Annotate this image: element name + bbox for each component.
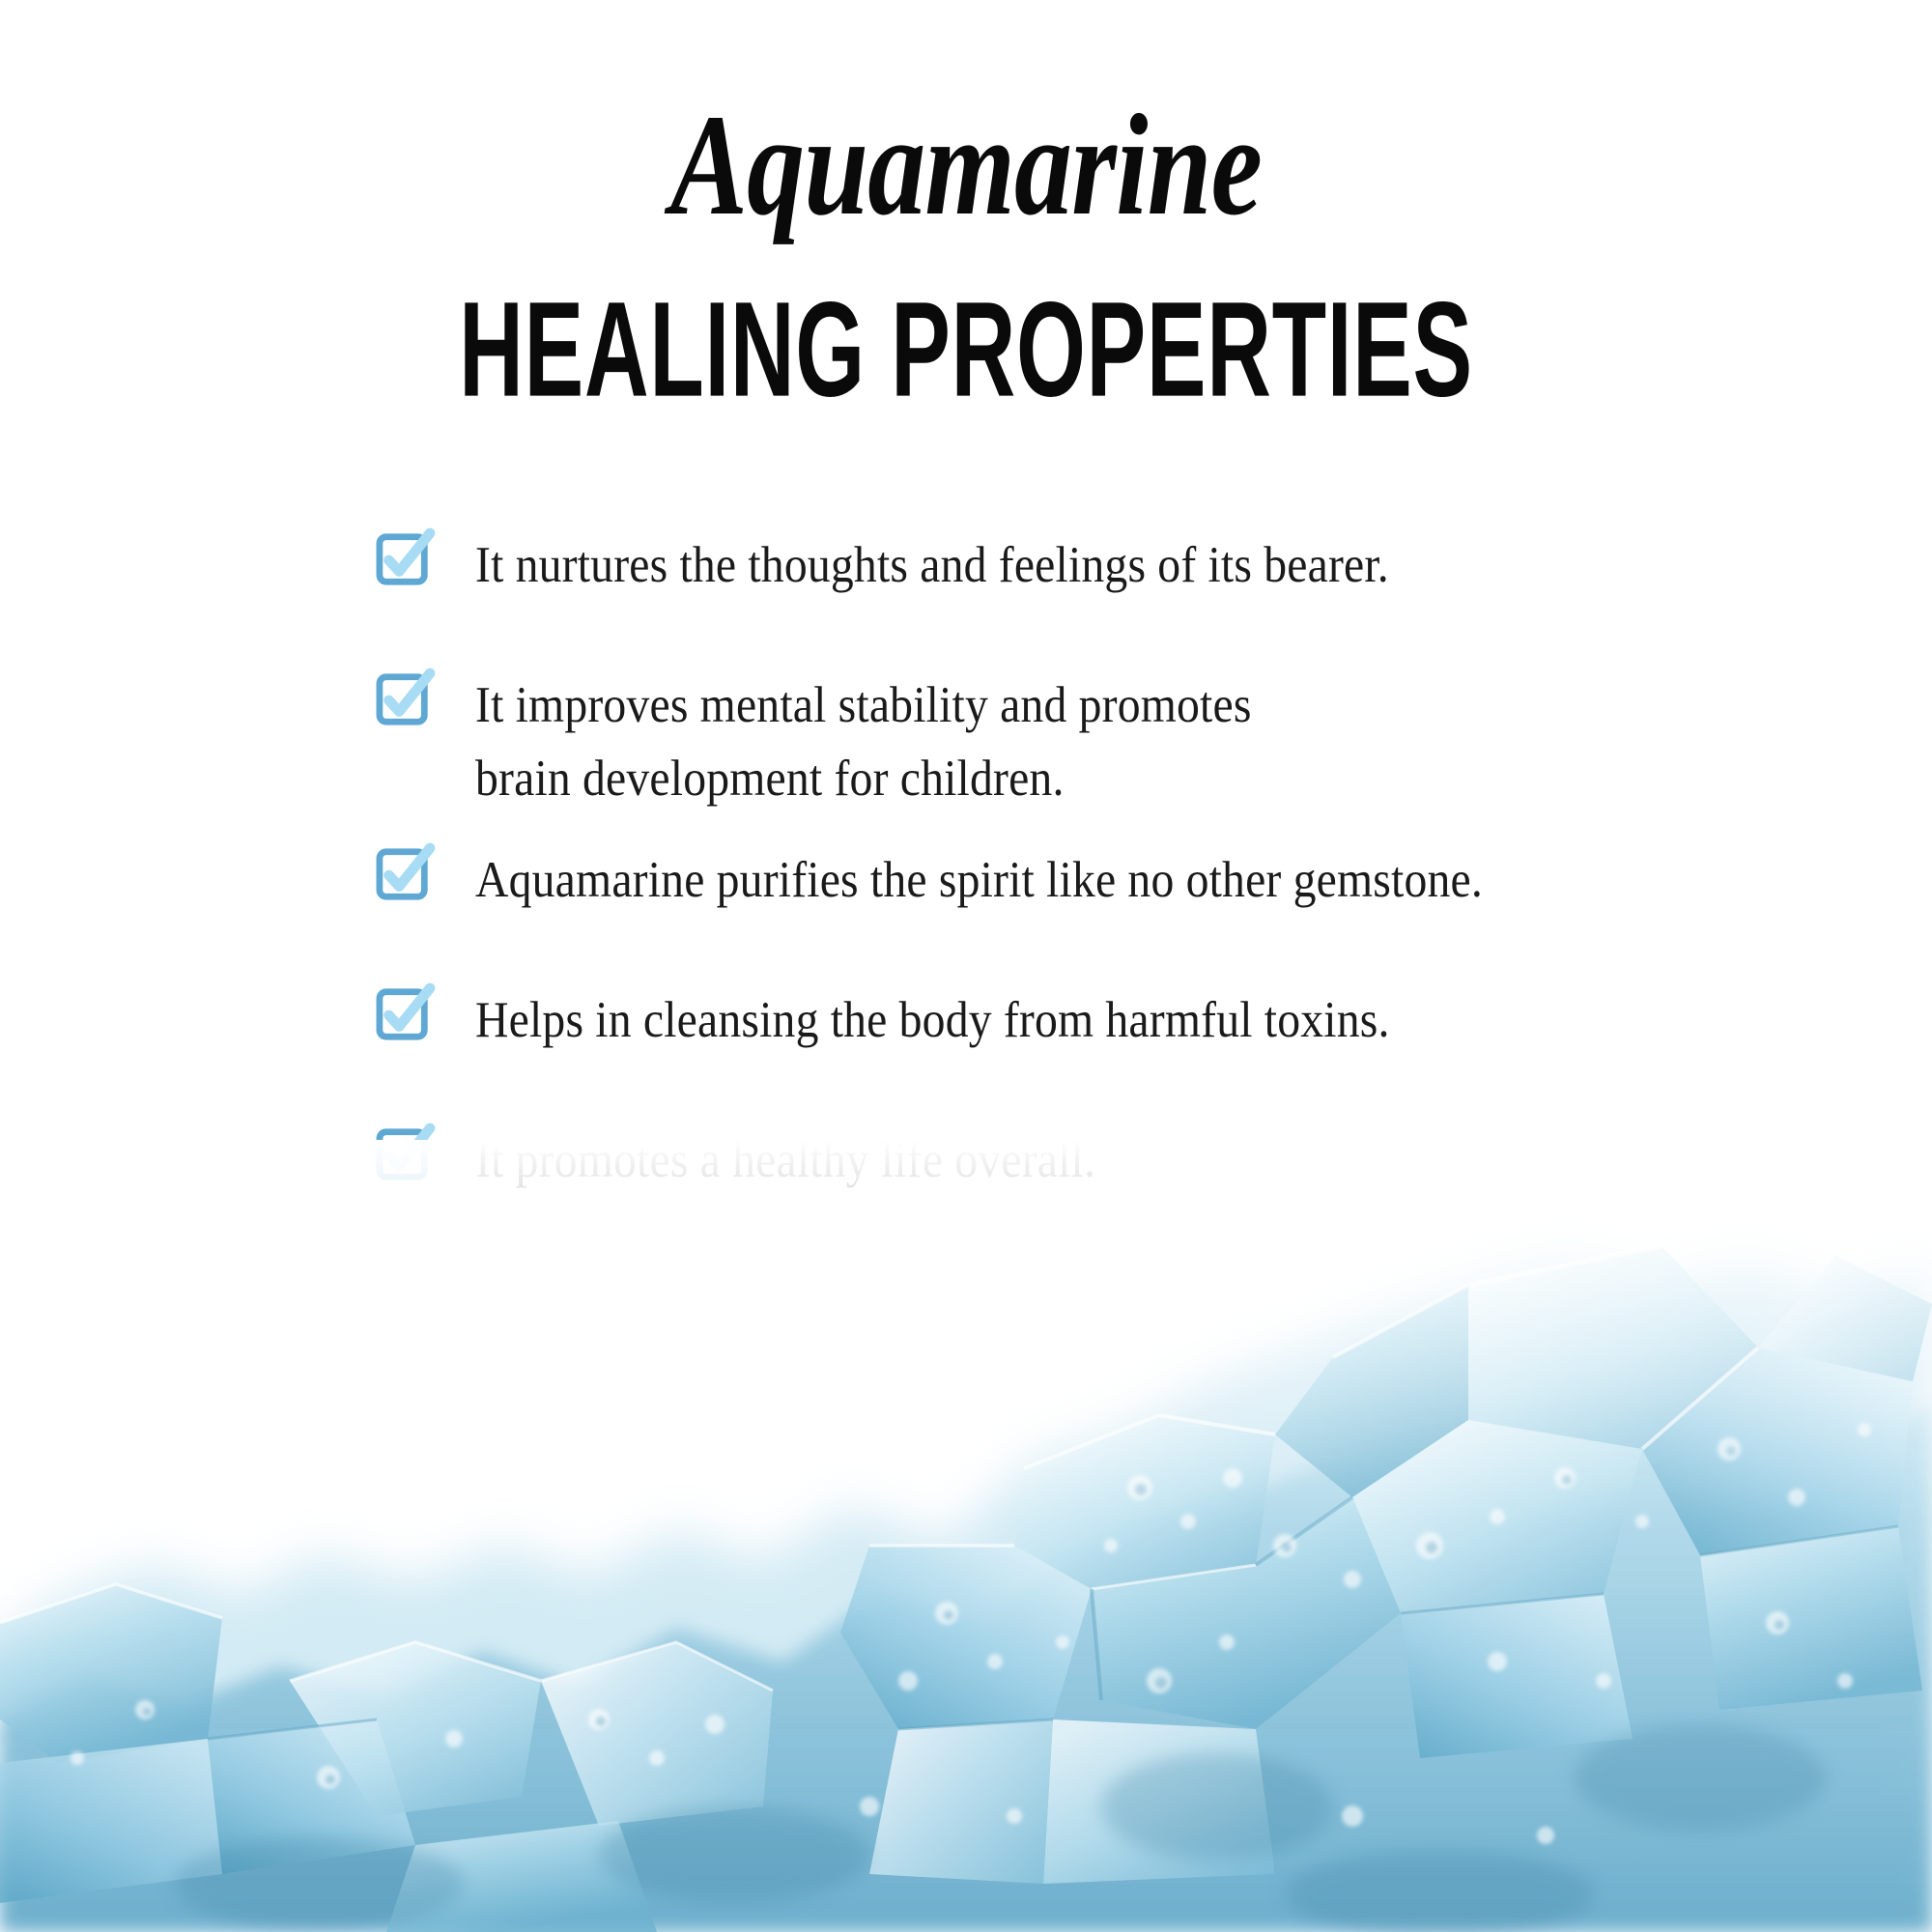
checkbox-checked-icon — [377, 986, 433, 1042]
list-item-text: Aquamarine purifies the spirit like no o… — [475, 844, 1483, 917]
ice-top-fade — [0, 1140, 1932, 1932]
ice-bubbles — [71, 1423, 1871, 1844]
ice-shadow-pockets — [174, 1724, 1826, 1932]
list-item: It nurtures the thoughts and feelings of… — [377, 529, 1806, 602]
healing-properties-list: It nurtures the thoughts and feelings of… — [377, 529, 1806, 1198]
list-item-text: It promotes a healthy life overall. — [475, 1124, 1095, 1197]
list-item: It improves mental stability and promote… — [377, 669, 1806, 815]
poster-canvas: Aquamarine HEALING PROPERTIES It nurture… — [0, 0, 1932, 1932]
ice-bubble-cores — [143, 1446, 1784, 1784]
ice-cube-cluster-center — [840, 1415, 1401, 1884]
ice-crevices — [208, 1497, 1898, 1739]
ice-background-haze — [0, 1256, 1932, 1932]
checkbox-checked-icon — [377, 671, 433, 727]
checkbox-checked-icon — [377, 531, 433, 587]
list-item: It promotes a healthy life overall. — [377, 1124, 1806, 1197]
heading-block: Aquamarine HEALING PROPERTIES — [0, 93, 1932, 410]
checkbox-checked-icon — [377, 846, 433, 902]
ice-mid-bed — [0, 1386, 1932, 1932]
ice-cube-cluster-right — [1275, 1246, 1932, 1758]
list-item-text: It improves mental stability and promote… — [475, 669, 1252, 815]
list-item: Helps in cleansing the body from harmful… — [377, 984, 1806, 1057]
ice-cubes-photo — [0, 1140, 1932, 1932]
page-subtitle: HEALING PROPERTIES — [290, 282, 1642, 417]
page-title: Aquamarine — [193, 93, 1739, 238]
list-item-text: It nurtures the thoughts and feelings of… — [475, 529, 1389, 602]
ice-highlight-edges — [0, 1246, 1758, 1690]
list-item-text: Helps in cleansing the body from harmful… — [475, 984, 1390, 1057]
checkbox-checked-icon — [377, 1126, 433, 1182]
ice-cube-cluster-left — [0, 1584, 773, 1932]
list-item: Aquamarine purifies the spirit like no o… — [377, 844, 1806, 917]
